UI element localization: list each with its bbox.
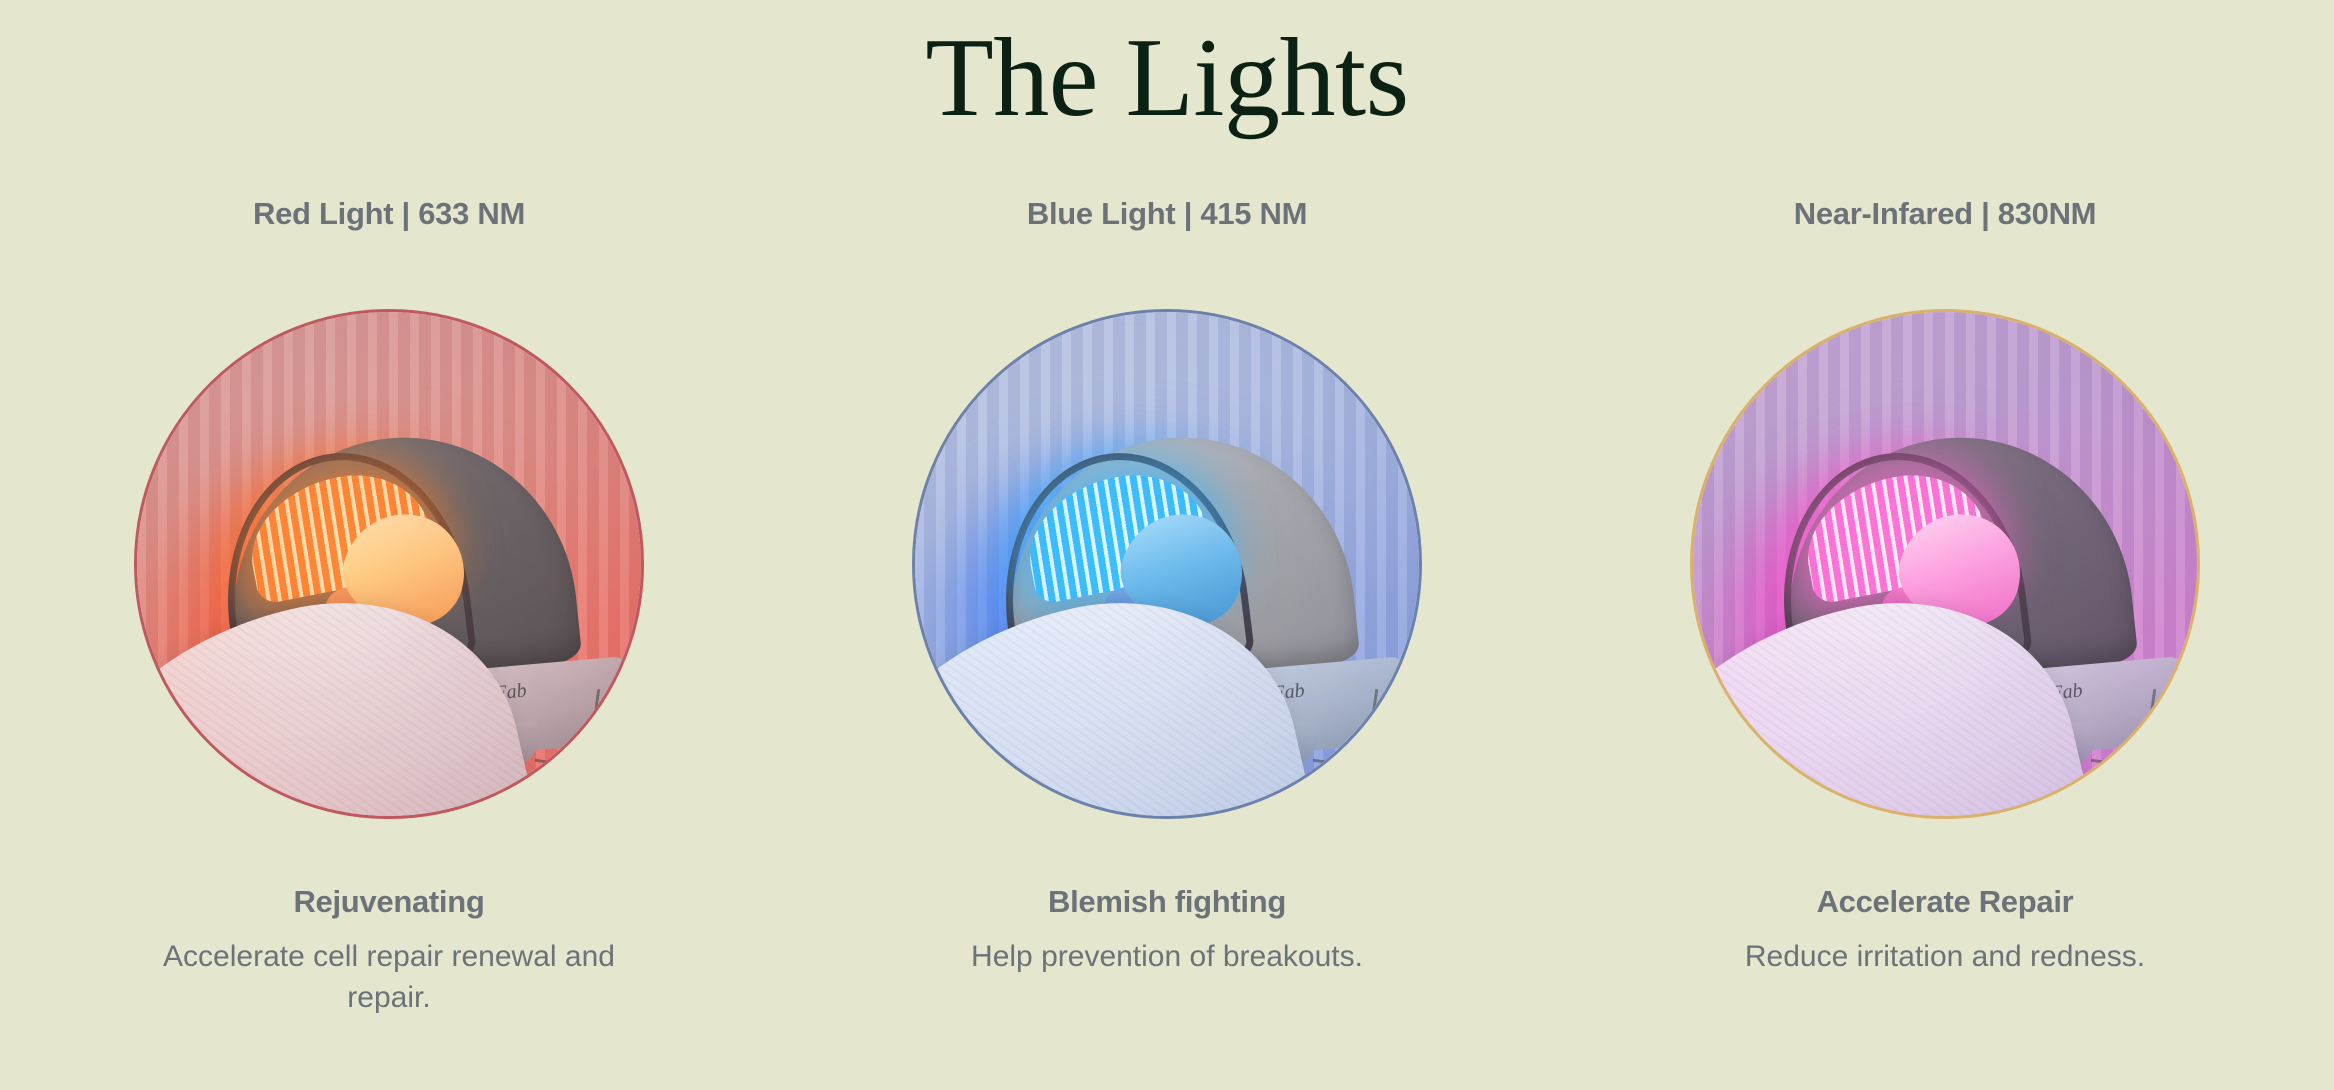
benefit-body-blue: Help prevention of breakouts. [971,936,1363,977]
color-wash-overlay [1693,312,2197,816]
light-card-red: Red Light | 633 NM Fab [0,196,778,1019]
light-therapy-photo-near-infrared: Fab [1690,309,2200,819]
light-therapy-photo-blue: Fab [912,309,1422,819]
benefit-body-near-infrared: Reduce irritation and redness. [1745,936,2145,977]
benefit-title-blue: Blemish fighting [1048,884,1286,920]
light-therapy-photo-red: Fab [134,309,644,819]
benefit-title-red: Rejuvenating [293,884,484,920]
card-heading-blue: Blue Light | 415 NM [1027,196,1307,240]
card-heading-near-infrared: Near-Infared | 830NM [1794,196,2096,240]
light-cards-row: Red Light | 633 NM Fab [0,196,2334,1019]
benefit-title-near-infrared: Accelerate Repair [1817,884,2074,920]
card-image-wrap-near-infrared: Fab [1689,308,2201,820]
light-card-near-infrared: Near-Infared | 830NM Fab [1556,196,2334,1019]
lights-section: The Lights Red Light | 633 NM Fab [0,0,2334,1090]
light-card-blue: Blue Light | 415 NM Fab [778,196,1556,1019]
card-image-wrap-blue: Fab [911,308,1423,820]
color-wash-overlay [137,312,641,816]
page-title: The Lights [0,0,2334,134]
benefit-body-red: Accelerate cell repair renewal and repai… [129,936,649,1019]
color-wash-overlay [915,312,1419,816]
card-heading-red: Red Light | 633 NM [253,196,525,240]
card-image-wrap-red: Fab [133,308,645,820]
